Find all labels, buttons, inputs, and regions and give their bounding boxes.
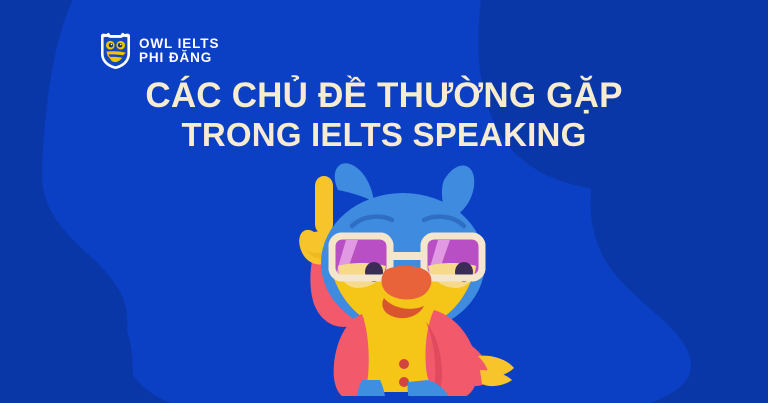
mascot-jacket-button-1 — [399, 359, 409, 369]
mascot-beak — [382, 266, 432, 300]
owl-shield-icon — [99, 32, 132, 70]
mascot-index-finger — [315, 176, 333, 234]
mascot-illustration — [258, 158, 518, 396]
headline-line-2: TRONG IELTS SPEAKING — [0, 116, 768, 154]
brand-logo[interactable]: OWL IELTS PHI ĐĂNG — [99, 32, 219, 70]
brand-logo-line-2: PHI ĐĂNG — [139, 51, 219, 65]
headline-line-1: CÁC CHỦ ĐỀ THƯỜNG GẶP — [0, 76, 768, 116]
brand-logo-text: OWL IELTS PHI ĐĂNG — [139, 37, 219, 66]
banner-root: OWL IELTS PHI ĐĂNG CÁC CHỦ ĐỀ THƯỜNG GẶP… — [0, 0, 768, 403]
mascot-left-ear — [335, 163, 374, 202]
mascot-bird-svg — [258, 158, 518, 396]
brand-logo-line-1: OWL IELTS — [139, 37, 219, 51]
mascot-jacket-button-2 — [399, 377, 409, 387]
headline: CÁC CHỦ ĐỀ THƯỜNG GẶP TRONG IELTS SPEAKI… — [0, 76, 768, 154]
